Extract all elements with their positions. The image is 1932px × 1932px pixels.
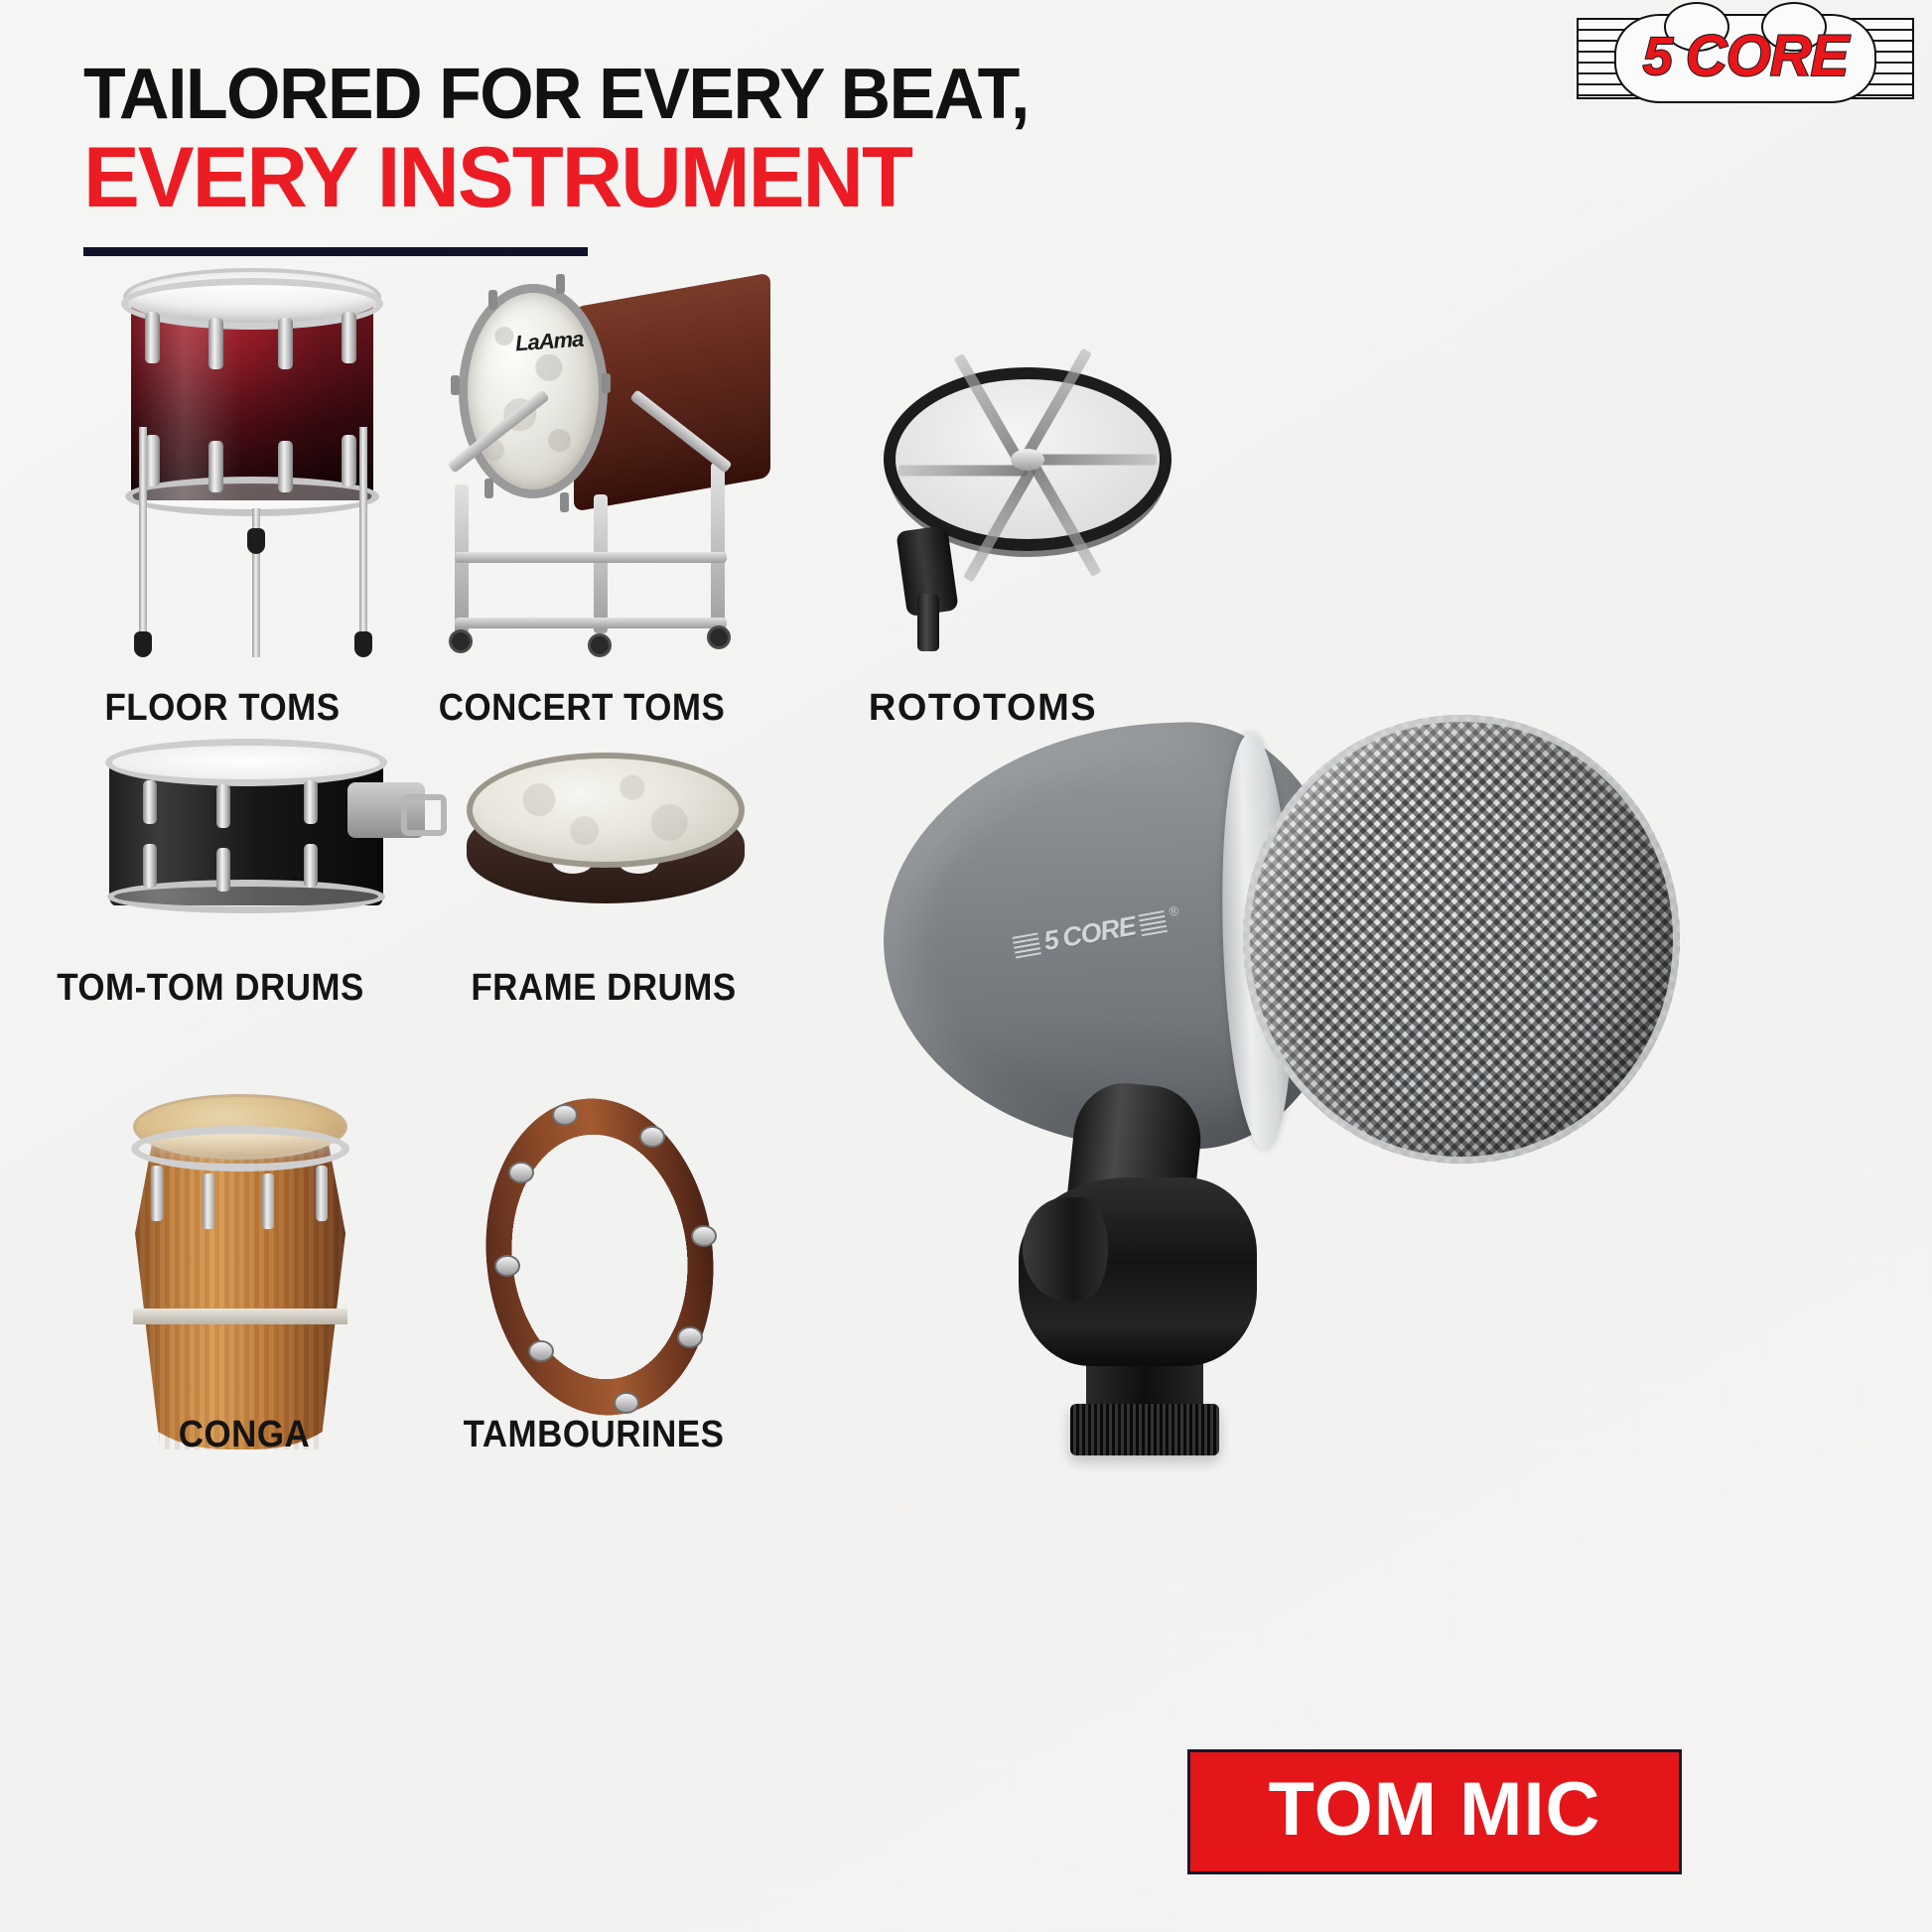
concert-head-logo: LaAma <box>514 327 584 357</box>
concert-bass-drum-icon: LaAma <box>445 268 792 685</box>
logo-number: 5 <box>1643 30 1674 83</box>
product-label-tambourines: TAMBOURINES <box>393 1414 795 1456</box>
headline-line-2: EVERY INSTRUMENT <box>83 135 1243 222</box>
tom-mic-badge: TOM MIC <box>1187 1749 1682 1874</box>
logo-wordmark: 5 CORE <box>1577 16 1914 97</box>
product-label-frame-drums: FRAME DRUMS <box>403 967 805 1010</box>
product-label-tom-tom-drums: TOM-TOM DRUMS <box>10 967 412 1010</box>
product-label-floor-toms: FLOOR TOMS <box>22 687 424 730</box>
floor-tom-drum-icon <box>103 260 401 677</box>
mic-mesh-grille <box>1243 715 1680 1164</box>
tambourine-icon <box>465 1084 743 1442</box>
headline-block: TAILORED FOR EVERY BEAT, EVERY INSTRUMEN… <box>83 58 1255 256</box>
mic-logo-number: 5 <box>1041 924 1060 957</box>
conga-drum-icon <box>111 1070 379 1467</box>
registered-trademark-icon: ® <box>1168 903 1179 919</box>
poster-canvas: 5 CORE TAILORED FOR EVERY BEAT, EVERY IN… <box>0 0 1932 1932</box>
mic-clip-knob <box>1023 1197 1108 1301</box>
hero-microphone: 5 CORE ® <box>874 695 1886 1708</box>
product-label-conga: CONGA <box>44 1414 446 1456</box>
product-label-concert-toms: CONCERT TOMS <box>381 687 783 730</box>
frame-drum-icon <box>459 745 757 943</box>
mic-logo-lines-right <box>1138 909 1167 935</box>
headline-underline <box>83 247 588 256</box>
headline-line-1: TAILORED FOR EVERY BEAT, <box>83 58 1220 133</box>
brand-logo-5core: 5 CORE <box>1577 18 1914 99</box>
rototom-drum-icon <box>874 357 1191 655</box>
logo-word: CORE <box>1686 28 1849 85</box>
mic-logo-lines-left <box>1012 932 1040 958</box>
tom-mic-badge-label: TOM MIC <box>1269 1772 1601 1848</box>
tom-tom-drum-icon <box>91 725 419 943</box>
mic-threaded-collar <box>1070 1404 1219 1455</box>
